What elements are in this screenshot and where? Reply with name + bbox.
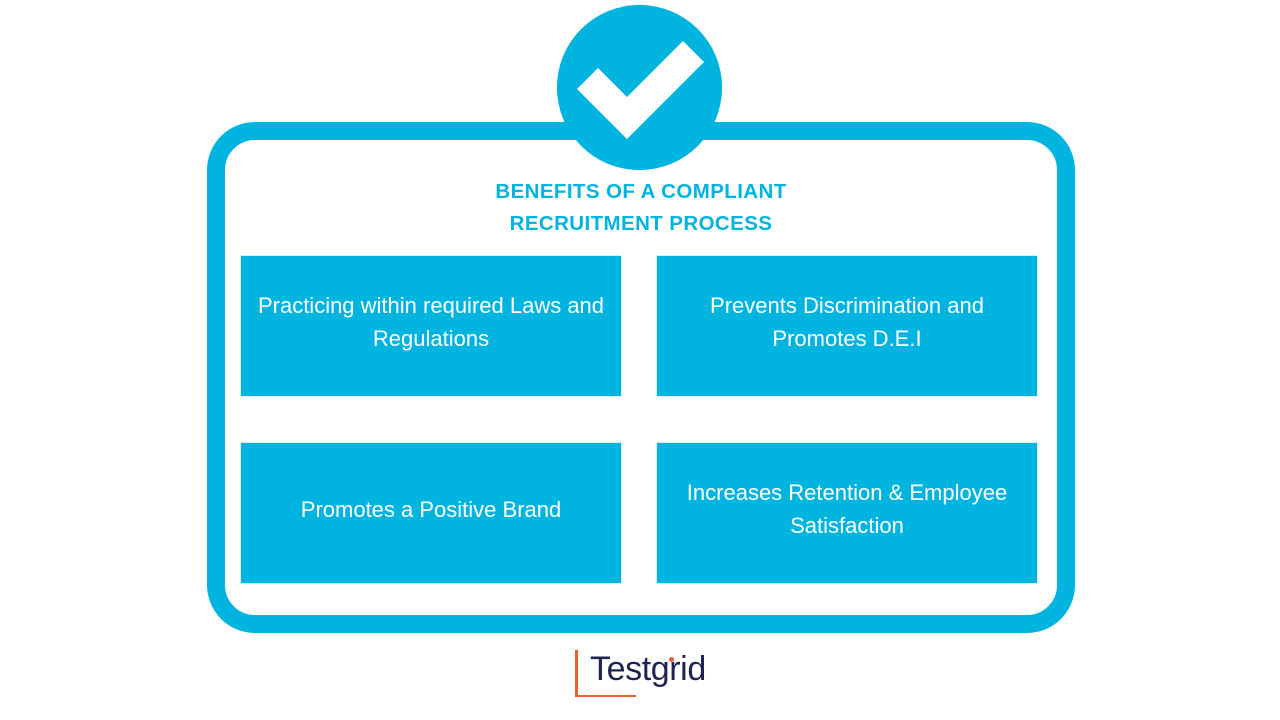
page-title-line-1: BENEFITS OF A COMPLIANT	[207, 176, 1075, 208]
logo-vertical-accent-bar	[575, 650, 578, 696]
page-title: BENEFITS OF A COMPLIANT RECRUITMENT PROC…	[207, 176, 1075, 240]
logo-i-dot-accent	[669, 657, 674, 662]
benefits-infographic: BENEFITS OF A COMPLIANT RECRUITMENT PROC…	[0, 0, 1280, 720]
logo-wordmark: Testgrid	[590, 646, 706, 692]
benefit-card-4: Increases Retention & Employee Satisfact…	[657, 443, 1037, 583]
benefits-grid: Practicing within required Laws and Regu…	[241, 256, 1037, 578]
benefit-card-2-label: Prevents Discrimination and Promotes D.E…	[657, 290, 1037, 355]
benefit-card-4-label: Increases Retention & Employee Satisfact…	[657, 477, 1037, 542]
benefit-card-1: Practicing within required Laws and Regu…	[241, 256, 621, 396]
benefit-card-3-label: Promotes a Positive Brand	[285, 494, 577, 527]
page-title-line-2: RECRUITMENT PROCESS	[207, 208, 1075, 240]
checkmark-circle-icon	[557, 5, 722, 170]
benefit-card-3: Promotes a Positive Brand	[241, 443, 621, 583]
logo-horizontal-accent-bar	[575, 695, 636, 698]
benefit-card-2: Prevents Discrimination and Promotes D.E…	[657, 256, 1037, 396]
testgrid-logo: Testgrid	[575, 646, 705, 698]
benefit-card-1-label: Practicing within required Laws and Regu…	[241, 290, 621, 355]
